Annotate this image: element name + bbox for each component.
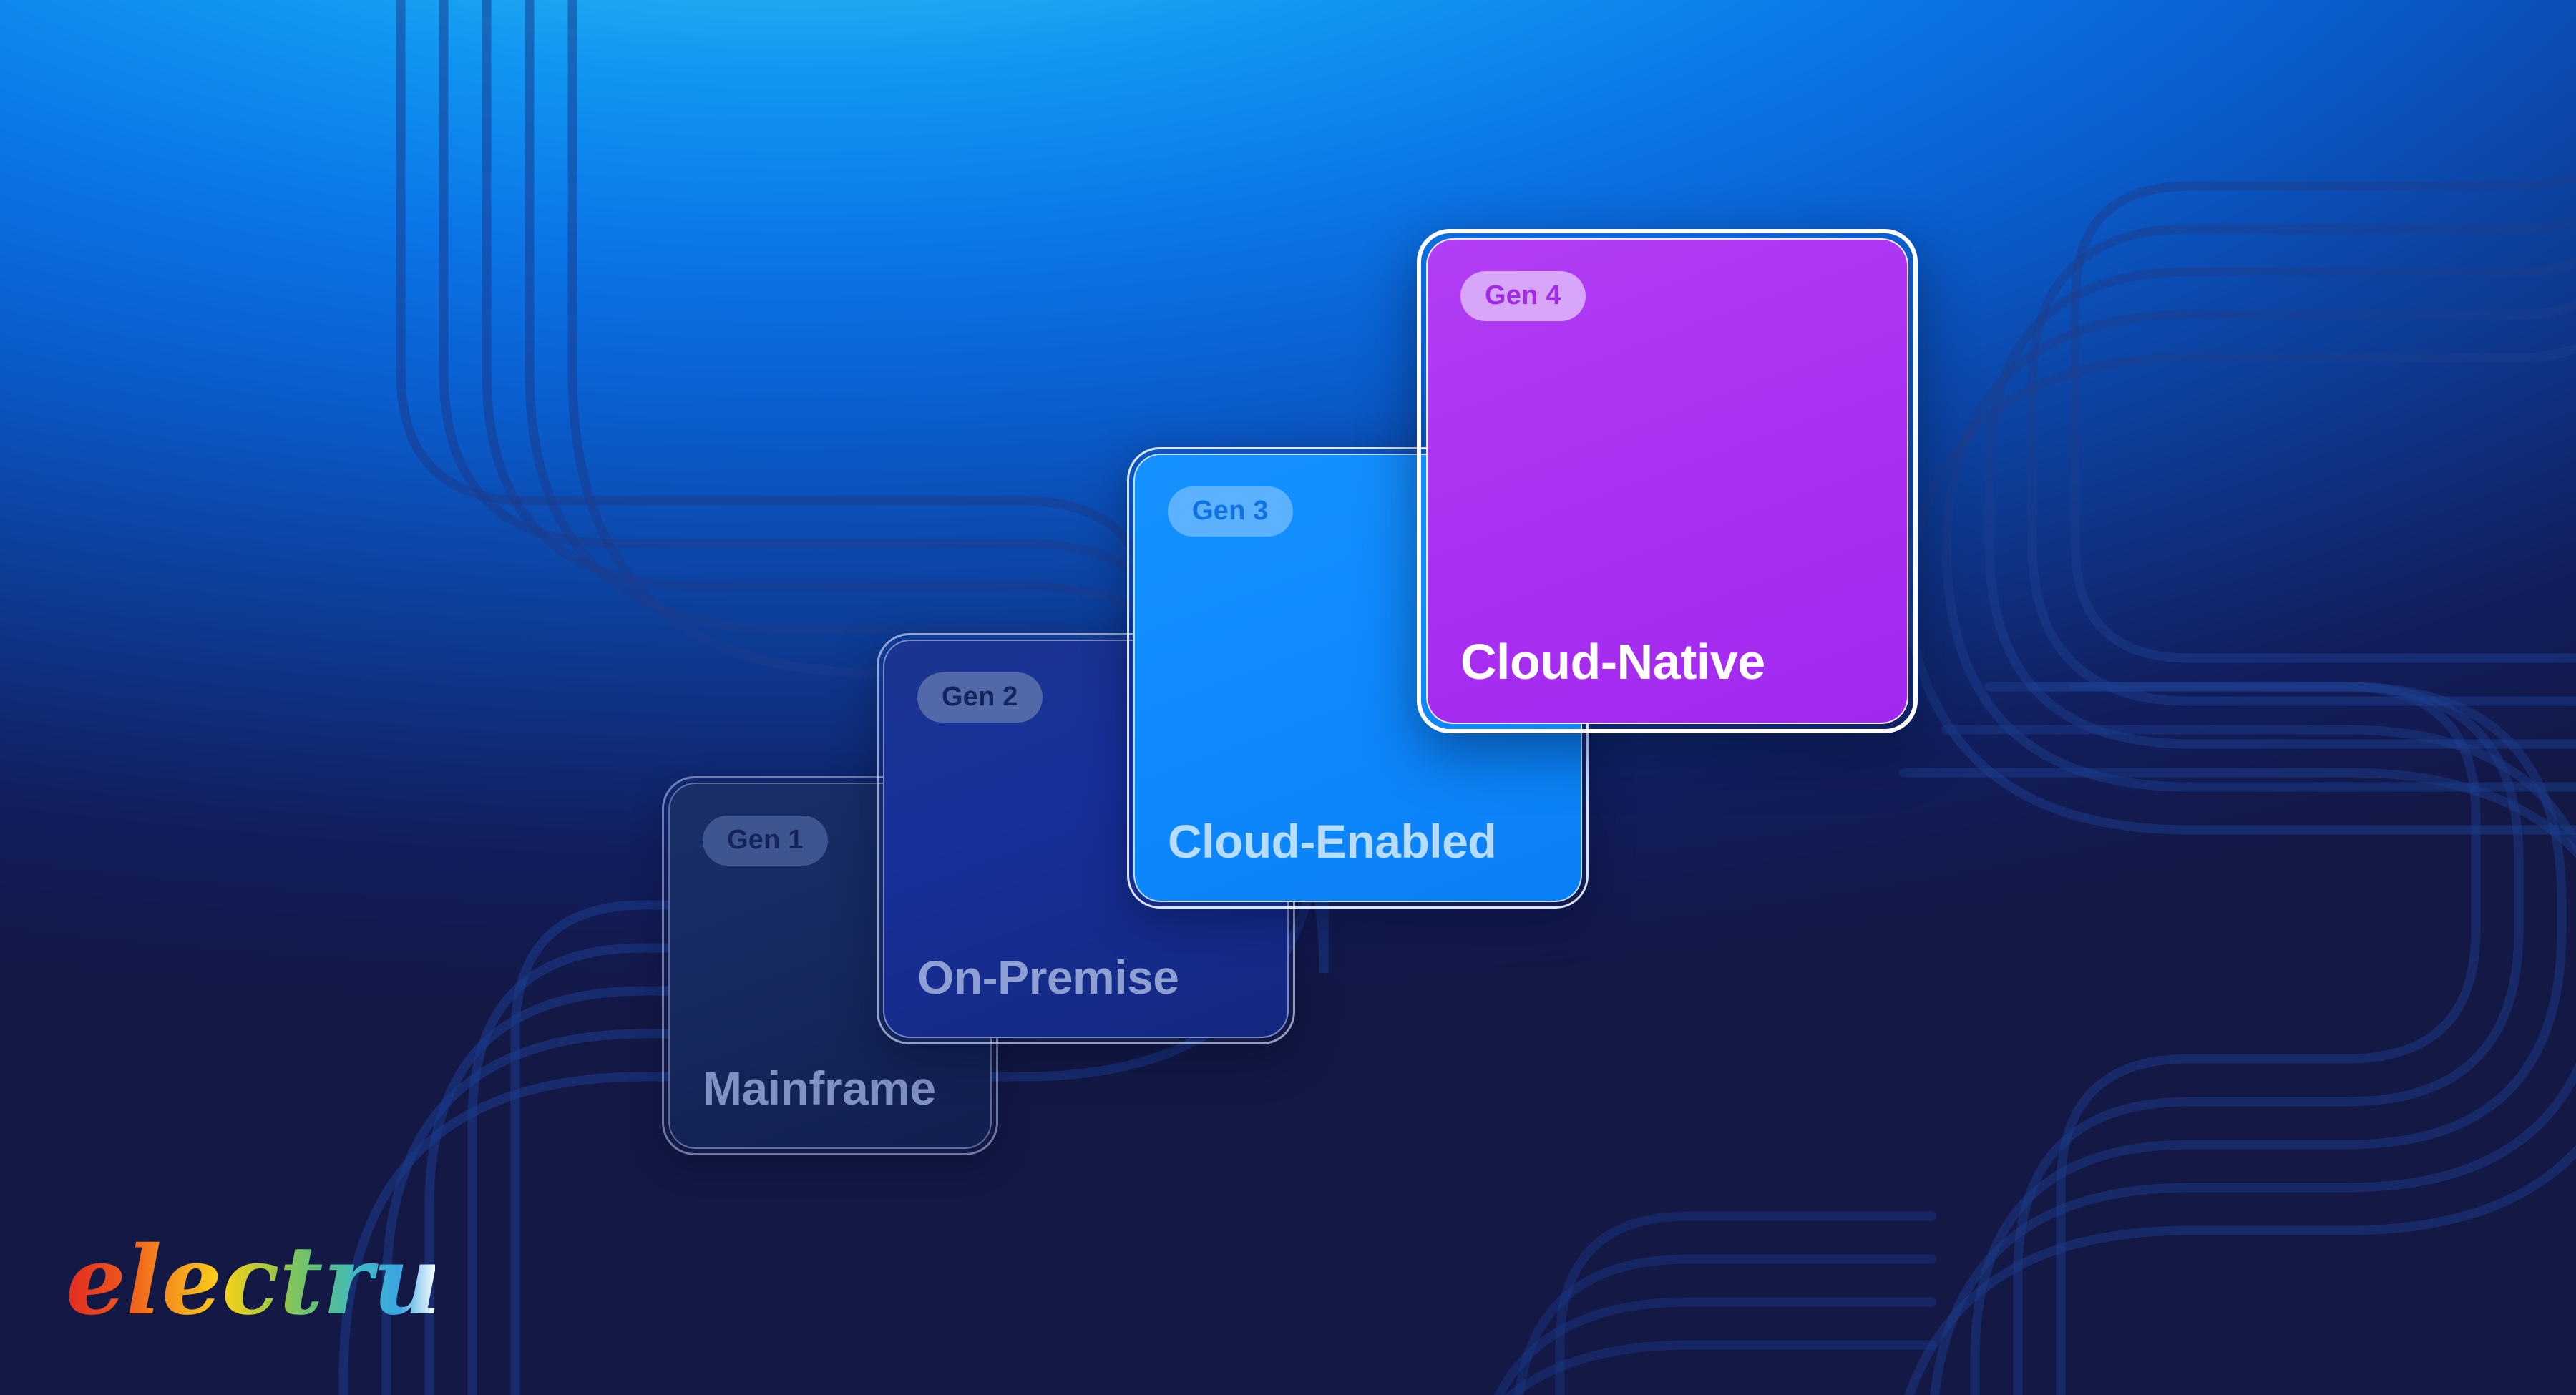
card-gen3-badge: Gen 3 — [1168, 486, 1293, 537]
card-gen4-body: Gen 4 Cloud-Native — [1426, 238, 1908, 724]
card-gen2-badge: Gen 2 — [917, 672, 1043, 723]
card-gen1-badge: Gen 1 — [703, 816, 828, 866]
card-gen1-title: Mainframe — [703, 1064, 957, 1116]
card-gen4-badge: Gen 4 — [1460, 271, 1586, 321]
generation-card-stack: Gen 1 Mainframe Gen 2 On-Premise Gen 3 C… — [0, 0, 2576, 1395]
electrum-logo: electrum — [63, 1216, 435, 1345]
card-gen3-title: Cloud-Enabled — [1168, 818, 1548, 869]
electrum-logo-text: electrum — [66, 1225, 435, 1336]
card-gen2-title: On-Premise — [917, 954, 1254, 1005]
card-gen4[interactable]: Gen 4 Cloud-Native — [1417, 229, 1918, 733]
slide-canvas: Gen 1 Mainframe Gen 2 On-Premise Gen 3 C… — [0, 0, 2576, 1395]
card-gen4-title: Cloud-Native — [1460, 637, 1874, 691]
